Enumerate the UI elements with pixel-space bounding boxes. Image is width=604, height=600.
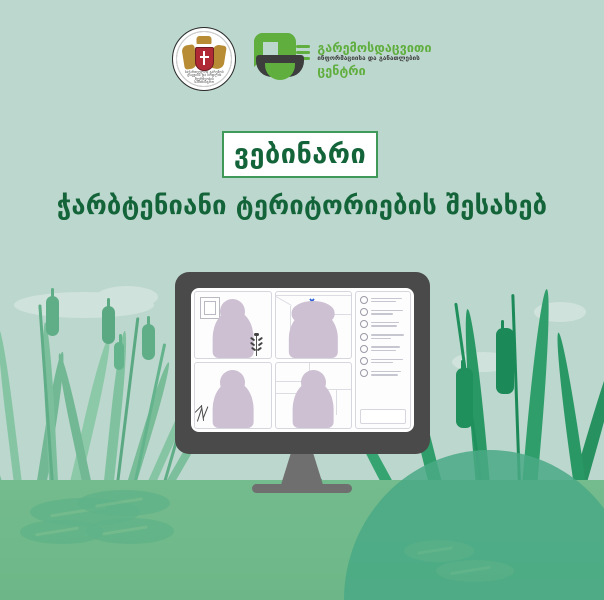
scribble-icon [197, 400, 211, 424]
crest-caption: საქართველოს გარემოს დაცვისა და სოფლის მე… [184, 71, 224, 85]
participant-row[interactable] [360, 333, 406, 341]
wall-line [276, 295, 353, 296]
lily-pad [86, 518, 174, 544]
participant-silhouette [289, 310, 337, 357]
avatar [360, 308, 368, 316]
cattail-head [114, 342, 124, 370]
participant-row[interactable] [360, 296, 406, 304]
org-logo-line1: გარემოსდაცვითი [317, 41, 431, 54]
participant-row[interactable] [360, 320, 406, 328]
video-tile-bottom-right[interactable] [275, 362, 353, 430]
book-leaf [265, 63, 295, 80]
cattail-head [46, 296, 59, 336]
cattail-head [496, 328, 514, 394]
crest-crown [197, 36, 212, 44]
avatar [360, 357, 368, 365]
org-logo: გარემოსდაცვითი ინფორმაციისა და განათლები… [254, 33, 431, 85]
poster-canvas: საქართველოს გარემოს დაცვისა და სოფლის მე… [0, 0, 604, 600]
avatar [360, 333, 368, 341]
wall-line [327, 389, 351, 390]
reed-cluster-left [0, 300, 180, 500]
org-logo-mark-icon [254, 33, 310, 85]
avatar [360, 296, 368, 304]
org-logo-bar [296, 45, 310, 48]
plant-icon [248, 332, 266, 356]
cattail-stem [130, 343, 166, 500]
participant-silhouette [212, 381, 253, 428]
wall-line [336, 389, 337, 415]
panel-footer-button[interactable] [360, 409, 406, 424]
cattail-head [102, 306, 115, 344]
org-logo-line3: ცენტრი [317, 64, 431, 77]
lily-pad [78, 490, 170, 516]
participant-list-panel[interactable] [355, 291, 411, 429]
avatar [360, 345, 368, 353]
lily-pad [404, 540, 474, 562]
cattail-head [142, 324, 155, 360]
government-crest-icon: საქართველოს გარემოს დაცვისა და სოფლის მე… [172, 27, 236, 91]
org-logo-bar [296, 51, 310, 54]
video-tile-top-right[interactable]: ✖ [275, 291, 353, 359]
cattail-head [456, 368, 473, 428]
lily-pad [436, 560, 514, 582]
picture-frame-icon [200, 297, 220, 319]
org-logo-book-icon [256, 55, 304, 79]
video-tile-grid: ✖ [194, 291, 352, 429]
monitor-screen: ✖ [191, 288, 414, 432]
org-logo-line2: ინფორმაციისა და განათლების [317, 56, 431, 63]
poster-subtitle: ჭარბტენიანი ტერიტორიების შესახებ [0, 191, 604, 221]
participant-row[interactable] [360, 308, 406, 316]
org-logo-text: გარემოსდაცვითი ინფორმაციისა და განათლები… [317, 41, 431, 77]
video-tile-top-left[interactable] [194, 291, 272, 359]
participant-row[interactable] [360, 345, 406, 353]
webinar-badge: ვებინარი [222, 131, 378, 178]
wall-line [275, 296, 291, 306]
reed-blade [0, 329, 24, 501]
participant-row[interactable] [360, 357, 406, 365]
avatar [360, 320, 368, 328]
crest-shield [195, 47, 214, 71]
webinar-badge-label: ვებინარი [234, 139, 366, 170]
avatar [360, 369, 368, 377]
monitor-stand-base [252, 484, 352, 493]
video-tile-bottom-left[interactable] [194, 362, 272, 430]
participant-silhouette [293, 381, 334, 428]
monitor-frame: ✖ [175, 272, 430, 454]
participant-row[interactable] [360, 369, 406, 377]
header-logos: საქართველოს გარემოს დაცვისა და სოფლის მე… [0, 26, 604, 92]
